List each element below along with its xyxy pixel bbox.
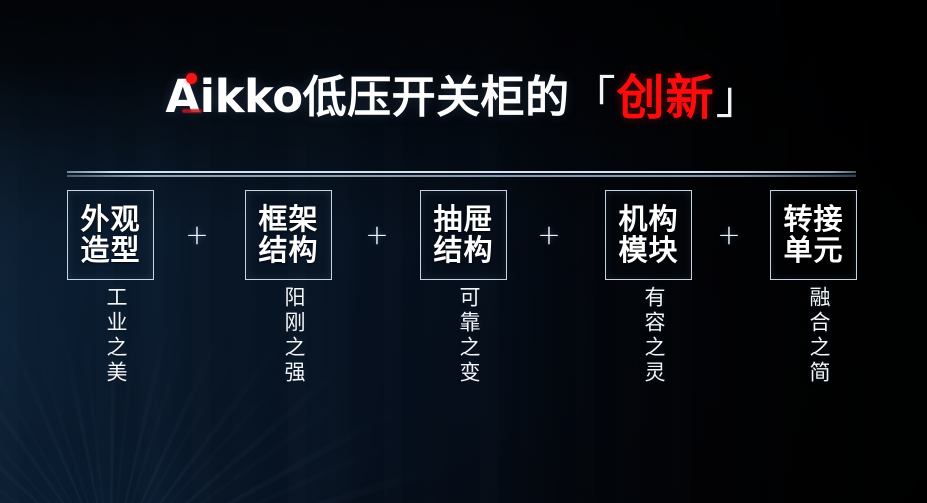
term-box-2[interactable]: 框架 结构: [245, 190, 332, 280]
term-box-3[interactable]: 抽屉 结构: [420, 190, 507, 280]
term-box-4[interactable]: 机构 模块: [605, 190, 692, 280]
formula-item-1[interactable]: 外观 造型: [67, 190, 154, 280]
plus-operator-3: +: [536, 222, 562, 248]
term-box-2-line1: 框架: [258, 204, 318, 235]
term-box-5-line2: 单元: [783, 235, 843, 266]
brand-logo: Aikko: [165, 70, 302, 123]
term-box-5[interactable]: 转接 单元: [770, 190, 857, 280]
formula-row: 外观 造型 + 框架 结构 + 抽屉 结构 + 机构 模块 +: [0, 190, 927, 290]
slide-title: Aikko低压开关柜的 「 创新 」: [0, 62, 927, 124]
term-box-2-line2: 结构: [258, 235, 318, 266]
term-box-5-line1: 转接: [783, 204, 843, 235]
term-box-4-line1: 机构: [618, 204, 678, 235]
term-box-3-line2: 结构: [433, 235, 493, 266]
brand-logo-red-underline: [182, 109, 202, 113]
formula-item-3[interactable]: 抽屉 结构: [420, 190, 507, 280]
formula-item-5[interactable]: 转接 单元: [770, 190, 857, 280]
title-text-group: Aikko低压开关柜的: [165, 61, 569, 125]
term-box-1-line2: 造型: [80, 235, 140, 266]
formula-item-4[interactable]: 机构 模块: [605, 190, 692, 280]
term-box-1[interactable]: 外观 造型: [67, 190, 154, 280]
bracket-open-icon: 「: [570, 61, 617, 126]
plus-operator-1: +: [184, 222, 210, 248]
caption-2: 阳刚之强: [268, 286, 308, 386]
title-lead-text: 低压开关柜的: [303, 72, 570, 123]
caption-4: 有容之灵: [628, 286, 668, 386]
term-box-4-line2: 模块: [618, 235, 678, 266]
bracket-close-icon: 」: [715, 61, 762, 126]
divider-line-bottom: [67, 175, 856, 177]
term-box-3-line1: 抽屉: [433, 204, 493, 235]
formula-item-2[interactable]: 框架 结构: [245, 190, 332, 280]
plus-operator-2: +: [364, 222, 390, 248]
title-highlight: 创新: [617, 58, 715, 128]
caption-3: 可靠之变: [443, 286, 483, 386]
caption-5: 融合之简: [793, 286, 833, 386]
horizontal-divider: [67, 171, 856, 178]
term-box-1-line1: 外观: [80, 204, 140, 235]
caption-row: 工业之美 阳刚之强 可靠之变 有容之灵 融合之简: [0, 286, 927, 411]
plus-operator-4: +: [716, 222, 742, 248]
caption-1: 工业之美: [90, 286, 130, 386]
slide-canvas: Aikko低压开关柜的 「 创新 」 外观 造型 + 框架 结构 + 抽屉: [0, 0, 927, 503]
